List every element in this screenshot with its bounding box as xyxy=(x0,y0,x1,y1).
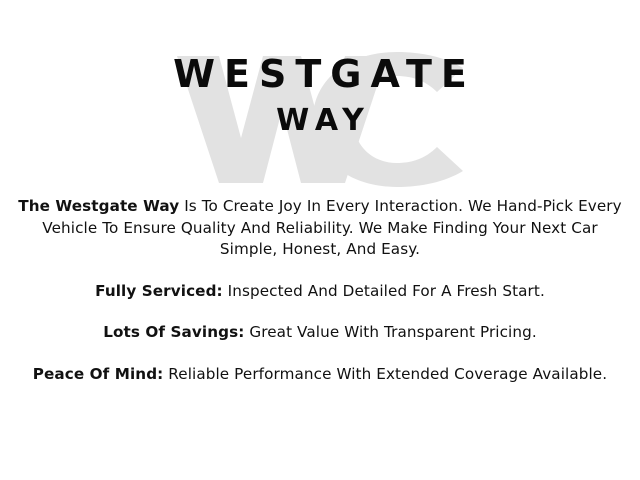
paragraph-fully-serviced: Fully Serviced: Inspected And Detailed F… xyxy=(14,281,626,303)
dealer-value-proposition-card: WESTGATE WAY The Westgate Way Is To Crea… xyxy=(0,0,640,480)
paragraph-mission-lead: The Westgate Way xyxy=(18,197,179,215)
paragraph-peace-of-mind: Peace Of Mind: Reliable Performance With… xyxy=(14,364,626,386)
value-proposition-copy: The Westgate Way Is To Create Joy In Eve… xyxy=(0,196,640,385)
logo-primary-wordmark: WESTGATE xyxy=(164,55,476,93)
logo-secondary-wordmark: WAY xyxy=(269,106,371,136)
brand-logo-lockup: WESTGATE WAY xyxy=(0,0,640,190)
paragraph-fully-serviced-rest: Inspected And Detailed For A Fresh Start… xyxy=(223,282,545,300)
paragraph-mission: The Westgate Way Is To Create Joy In Eve… xyxy=(14,196,626,261)
paragraph-peace-of-mind-lead: Peace Of Mind: xyxy=(33,365,164,383)
paragraph-lots-of-savings-rest: Great Value With Transparent Pricing. xyxy=(244,323,536,341)
paragraph-lots-of-savings-lead: Lots Of Savings: xyxy=(103,323,244,341)
paragraph-peace-of-mind-rest: Reliable Performance With Extended Cover… xyxy=(163,365,607,383)
paragraph-fully-serviced-lead: Fully Serviced: xyxy=(95,282,223,300)
paragraph-lots-of-savings: Lots Of Savings: Great Value With Transp… xyxy=(14,322,626,344)
logo-text-group: WESTGATE WAY xyxy=(0,0,640,190)
